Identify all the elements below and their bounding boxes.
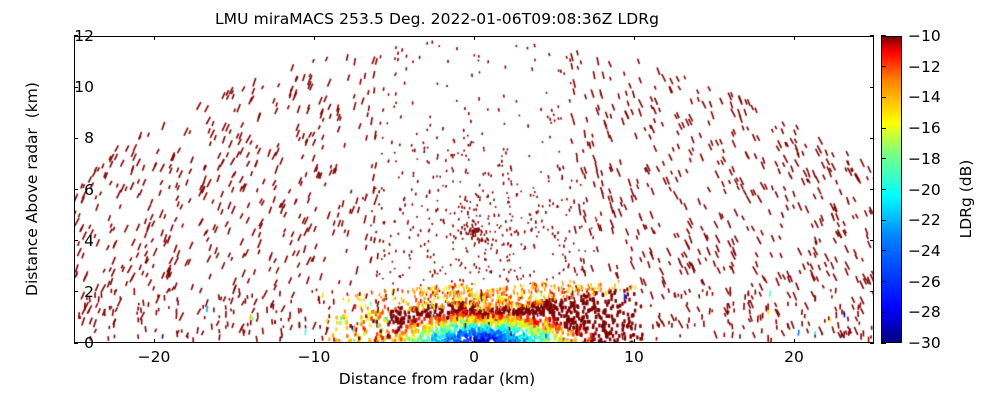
colorbar-tick (881, 66, 886, 67)
colorbar-tick (881, 220, 886, 221)
y-axis-tick-label: 6 (84, 181, 94, 199)
colorbar-tick-label: −18 (908, 150, 941, 168)
x-axis-tick (314, 339, 315, 343)
x-axis-tick (314, 36, 315, 40)
colorbar-tick-label: −30 (908, 334, 941, 352)
colorbar-tick (881, 128, 886, 129)
x-axis-tick-label: 0 (469, 348, 479, 366)
colorbar-tick (881, 189, 886, 190)
page-title: LMU miraMACS 253.5 Deg. 2022-01-06T09:08… (0, 10, 874, 28)
y-axis-tick (74, 138, 78, 139)
y-axis-tick (870, 240, 874, 241)
y-axis-tick (74, 291, 78, 292)
colorbar-tick (881, 35, 886, 36)
x-axis-tick (794, 339, 795, 343)
x-axis-tick (154, 36, 155, 40)
x-axis-tick (634, 339, 635, 343)
colorbar-tick-label: −24 (908, 242, 941, 260)
colorbar-tick-label: −22 (908, 211, 941, 229)
x-axis-tick (794, 36, 795, 40)
x-axis-tick (154, 339, 155, 343)
y-axis-tick-label: 8 (84, 129, 94, 147)
colorbar-tick-label: −28 (908, 303, 941, 321)
colorbar-label: LDRg (dB) (957, 49, 975, 349)
x-axis-tick-label: −20 (138, 348, 171, 366)
y-axis-tick (870, 291, 874, 292)
x-axis-tick (474, 36, 475, 40)
y-axis-tick-label: 2 (84, 283, 94, 301)
y-axis-tick (870, 342, 874, 343)
x-axis-tick (474, 339, 475, 343)
colorbar-tick (881, 97, 886, 98)
x-axis-tick-label: 10 (624, 348, 644, 366)
y-axis-tick (74, 342, 78, 343)
y-axis-tick (74, 240, 78, 241)
colorbar-tick-label: −12 (908, 58, 941, 76)
colorbar-tick-label: −16 (908, 119, 941, 137)
y-axis-tick (74, 189, 78, 190)
x-axis-tick (634, 36, 635, 40)
y-axis-tick-label: 0 (84, 334, 94, 352)
x-axis-tick-label: −10 (298, 348, 331, 366)
x-axis-tick-label: 20 (784, 348, 804, 366)
radar-figure: LMU miraMACS 253.5 Deg. 2022-01-06T09:08… (0, 0, 1000, 400)
colorbar-tick (881, 342, 886, 343)
colorbar-tick-label: −14 (908, 88, 941, 106)
colorbar-tick-label: −26 (908, 273, 941, 291)
y-axis-tick (870, 35, 874, 36)
colorbar-tick (881, 312, 886, 313)
y-axis-tick (870, 87, 874, 88)
colorbar-tick-label: −20 (908, 181, 941, 199)
colorbar-tick (881, 250, 886, 251)
y-axis-tick-label: 10 (74, 78, 94, 96)
y-axis-tick-label: 12 (74, 27, 94, 45)
plot-axes (74, 36, 874, 343)
scatter-plot-canvas (75, 37, 874, 343)
colorbar-tick (881, 281, 886, 282)
x-axis-label: Distance from radar (km) (0, 370, 874, 388)
colorbar-tick-label: −10 (908, 27, 941, 45)
y-axis-label: Distance Above radar (km) (23, 39, 41, 339)
colorbar-tick (881, 158, 886, 159)
y-axis-tick-label: 4 (84, 232, 94, 250)
y-axis-tick (870, 138, 874, 139)
y-axis-tick (870, 189, 874, 190)
